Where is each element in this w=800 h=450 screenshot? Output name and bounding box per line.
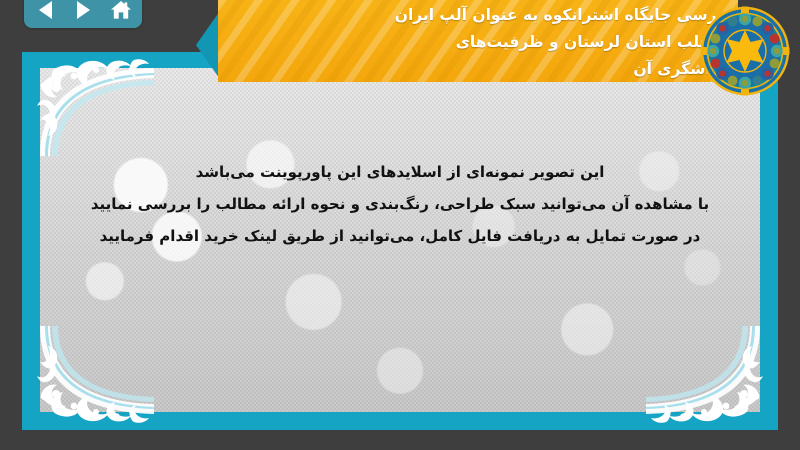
previous-slide-button[interactable]	[34, 0, 56, 21]
slide-frame: این تصویر نمونه‌ای از اسلایدهای این پاور…	[22, 52, 778, 430]
slide-navigation-bar	[24, 0, 142, 28]
body-line-3: در صورت تمایل به دریافت فایل کامل، می‌تو…	[76, 220, 724, 252]
presentation-slide: این تصویر نمونه‌ای از اسلایدهای این پاور…	[0, 0, 800, 450]
body-text-block: این تصویر نمونه‌ای از اسلایدهای این پاور…	[76, 156, 724, 252]
persian-medallion-icon	[700, 6, 790, 96]
title-line-2: در قلب استان لرستان و ظرفیت‌های	[262, 29, 732, 56]
home-button[interactable]	[110, 0, 132, 21]
next-slide-button[interactable]	[72, 0, 94, 21]
slide-title: بررسی جایگاه اشترانکوه به عنوان آلپ ایرا…	[262, 2, 732, 83]
body-line-2: با مشاهده آن می‌توانید سبک طراحی، رنگ‌بن…	[76, 188, 724, 220]
title-line-3: گردشگری آن	[262, 56, 732, 83]
home-icon	[110, 0, 132, 20]
triangle-left-icon	[39, 1, 52, 19]
title-line-1: بررسی جایگاه اشترانکوه به عنوان آلپ ایرا…	[262, 2, 732, 29]
triangle-right-icon	[77, 1, 90, 19]
body-line-1: این تصویر نمونه‌ای از اسلایدهای این پاور…	[76, 156, 724, 188]
slide-canvas: این تصویر نمونه‌ای از اسلایدهای این پاور…	[40, 68, 760, 412]
